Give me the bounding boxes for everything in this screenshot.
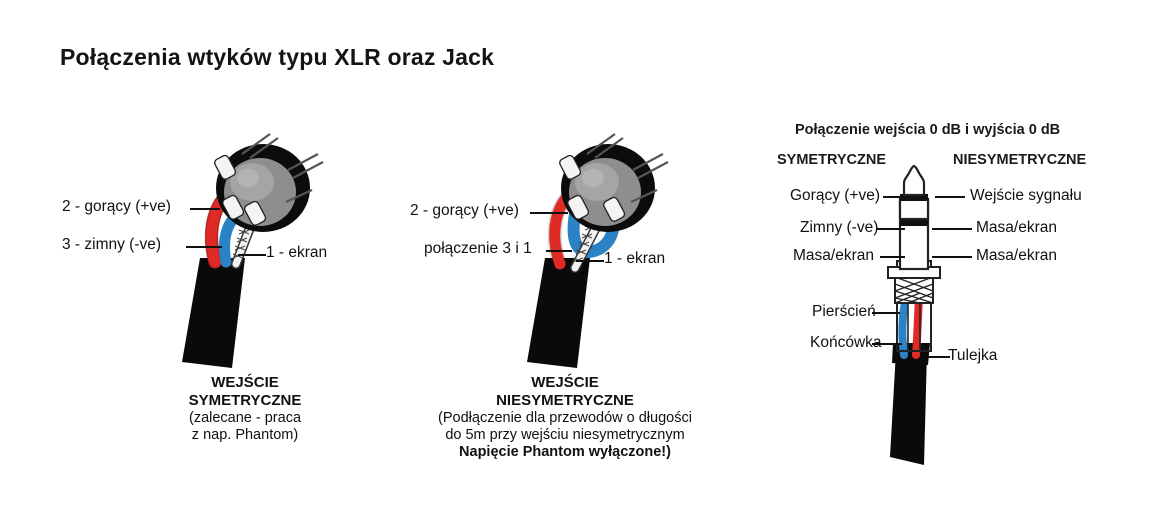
xlr1-caption-line2: SYMETRYCZNE <box>120 392 370 410</box>
cable-jacket-icon <box>527 258 590 368</box>
xlr-connector-icon <box>561 144 655 232</box>
jack-right-label-1: Wejście sygnału <box>970 187 1082 205</box>
cable-jacket-icon <box>890 351 927 465</box>
xlr1-label-hot: 2 - gorący (+ve) <box>62 198 171 216</box>
xlr1-caption-line1: WEJŚCIE <box>120 374 370 392</box>
leader-line-hot-1 <box>190 208 220 210</box>
xlr2-caption-line2: NIESYMETRYCZNE <box>415 392 715 410</box>
diagram-page: Połączenia wtyków typu XLR oraz Jack <box>0 0 1170 521</box>
strain-relief-icon <box>895 277 933 303</box>
cable-jacket-icon <box>182 258 245 368</box>
xlr1-label-cold: 3 - zimny (-ve) <box>62 236 161 254</box>
xlr2-label-hot: 2 - gorący (+ve) <box>410 202 519 220</box>
jack-wire-label-ring: Pierścień <box>812 303 876 321</box>
jack-panel-title: Połączenie wejścia 0 dB i wyjścia 0 dB <box>795 122 1060 138</box>
xlr2-caption: WEJŚCIE NIESYMETRYCZNE (Podłączenie dla … <box>415 374 715 461</box>
jack-right-label-3: Masa/ekran <box>976 247 1057 265</box>
ring-icon <box>900 199 928 219</box>
leader-line-jack-ground-r2 <box>932 228 972 230</box>
leader-line-shield-2 <box>576 260 604 262</box>
leader-line-sleeve <box>928 356 950 358</box>
jack-wire-label-tip: Końcówka <box>810 334 882 352</box>
leader-line-bridge-2 <box>546 250 572 252</box>
page-title: Połączenia wtyków typu XLR oraz Jack <box>60 44 494 71</box>
jack-left-label-1: Gorący (+ve) <box>790 187 880 205</box>
leader-line-jack-ground <box>880 256 905 258</box>
xlr1-caption: WEJŚCIE SYMETRYCZNE (zalecane - praca z … <box>120 374 370 444</box>
jack-left-label-2: Zimny (-ve) <box>800 219 878 237</box>
tip-icon <box>904 166 924 195</box>
xlr2-label-bridge: połączenie 3 i 1 <box>424 240 532 258</box>
xlr2-caption-line4: do 5m przy wejściu niesymetrycznym <box>445 427 684 443</box>
jack-left-label-3: Masa/ekran <box>793 247 874 265</box>
xlr-balanced-artwork <box>160 140 360 390</box>
xlr1-caption-line3: (zalecane - praca <box>189 410 301 426</box>
leader-line-ring <box>872 312 900 314</box>
leader-line-jack-ground-r3 <box>932 256 972 258</box>
jack-wire-label-sleeve: Tulejka <box>948 347 997 365</box>
xlr1-caption-line4: z nap. Phantom) <box>192 427 298 443</box>
xlr2-caption-line3: (Podłączenie dla przewodów o długości <box>438 410 692 426</box>
jack-right-label-2: Masa/ekran <box>976 219 1057 237</box>
xlr2-caption-line5: Napięcie Phantom wyłączone!) <box>459 444 671 460</box>
leader-line-jack-cold <box>877 228 905 230</box>
xlr2-label-shield: 1 - ekran <box>604 250 665 268</box>
trs-jack-artwork <box>880 165 1000 485</box>
leader-line-jack-signal <box>935 196 965 198</box>
leader-line-cold-1 <box>186 246 222 248</box>
leader-line-hot-2 <box>530 212 568 214</box>
jack-column-left-header: SYMETRYCZNE <box>777 152 886 168</box>
xlr2-caption-line1: WEJŚCIE <box>415 374 715 392</box>
leader-line-jack-hot <box>883 196 905 198</box>
leader-line-shield-1 <box>238 254 266 256</box>
xlr1-label-shield: 1 - ekran <box>266 244 327 262</box>
